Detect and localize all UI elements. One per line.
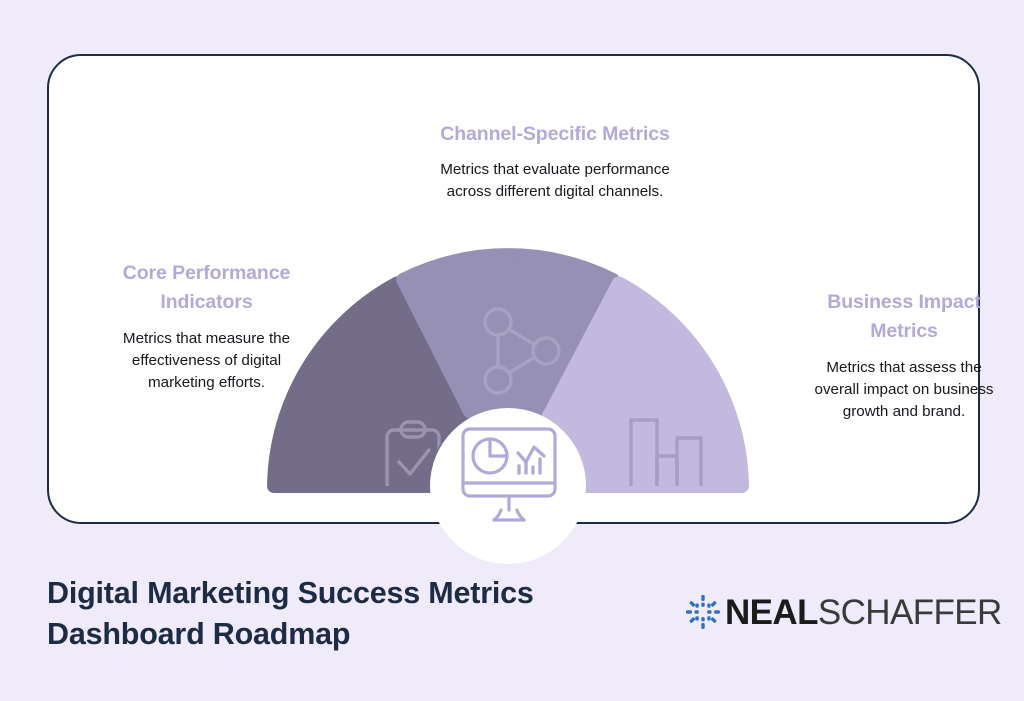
center-hub [430, 408, 586, 564]
body-business-impact-metrics: Metrics that assess the overall impact o… [804, 357, 1004, 423]
neal-schaffer-logo: NEALSCHAFFER [686, 588, 1002, 636]
dotted-ring-logo-icon [686, 595, 720, 629]
body-channel-specific-metrics: Metrics that evaluate performance across… [435, 159, 675, 203]
heading-core-performance-indicators: Core Performance Indicators [104, 259, 309, 318]
body-core-performance-indicators: Metrics that measure the effectiveness o… [104, 328, 309, 394]
heading-business-impact-metrics: Business Impact Metrics [804, 288, 1004, 347]
logo-name-bold: NEAL [725, 593, 818, 632]
logo-name-light: SCHAFFER [818, 593, 1002, 632]
column-business-impact-metrics: Business Impact Metrics Metrics that ass… [804, 288, 1004, 423]
logo-wordmark: NEALSCHAFFER [725, 595, 1002, 630]
heading-channel-specific-metrics: Channel-Specific Metrics [435, 120, 675, 149]
page-title: Digital Marketing Success Metrics Dashbo… [47, 573, 647, 654]
column-channel-specific-metrics: Channel-Specific Metrics Metrics that ev… [435, 120, 675, 203]
semicircle-diagram: Core Performance Indicators Metrics that… [49, 56, 982, 526]
column-core-performance-indicators: Core Performance Indicators Metrics that… [104, 259, 309, 394]
infographic-card: Core Performance Indicators Metrics that… [47, 54, 980, 524]
